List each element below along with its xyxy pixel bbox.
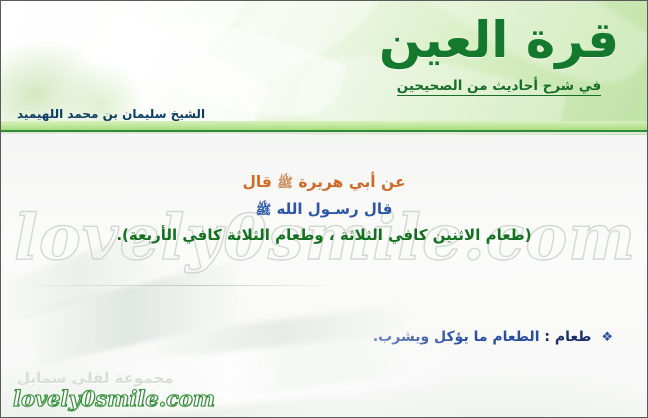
slide-content: عن أبي هريرة ﷺ قال قال رسـول الله ﷺ (طعا… <box>1 135 647 417</box>
flower-bullet-icon: ❖ <box>601 330 613 345</box>
narrator-text: عن أبي هريرة <box>298 173 405 191</box>
logo-title: قرة العين <box>365 7 633 75</box>
definition-text: الطعام ما يؤكل ويشرب. <box>373 329 540 345</box>
sallallahu-icon: ﷺ <box>277 176 293 191</box>
page-header: قرة العين في شرح أحاديث من الصحيحين الشي… <box>1 1 647 135</box>
narrator-line: عن أبي هريرة ﷺ قال <box>1 173 647 194</box>
definition-term: طعام : <box>544 329 591 345</box>
prophet-text: قال رسـول الله <box>277 200 393 218</box>
narrator-said-text: قال <box>242 173 271 191</box>
header-green-band <box>1 121 647 130</box>
hadith-text: (طعام الاثنين كافي الثلاثة ، وطعام الثلا… <box>1 226 647 244</box>
brand-logo: قرة العين في شرح أحاديث من الصحيحين <box>365 7 633 125</box>
header-rule-shadow <box>1 132 647 134</box>
definition-bullet-line: ❖ طعام : الطعام ما يؤكل ويشرب. <box>373 329 613 345</box>
prophet-attribution-line: قال رسـول الله ﷺ <box>1 200 647 221</box>
author-name: الشيخ سليمان بن محمد اللهيميد <box>17 107 205 121</box>
logo-subtitle: في شرح أحاديث من الصحيحين <box>397 78 602 96</box>
sallallahu-alayhi-wasallam-icon: ﷺ <box>256 203 272 218</box>
slide-canvas: قرة العين في شرح أحاديث من الصحيحين الشي… <box>0 0 648 418</box>
